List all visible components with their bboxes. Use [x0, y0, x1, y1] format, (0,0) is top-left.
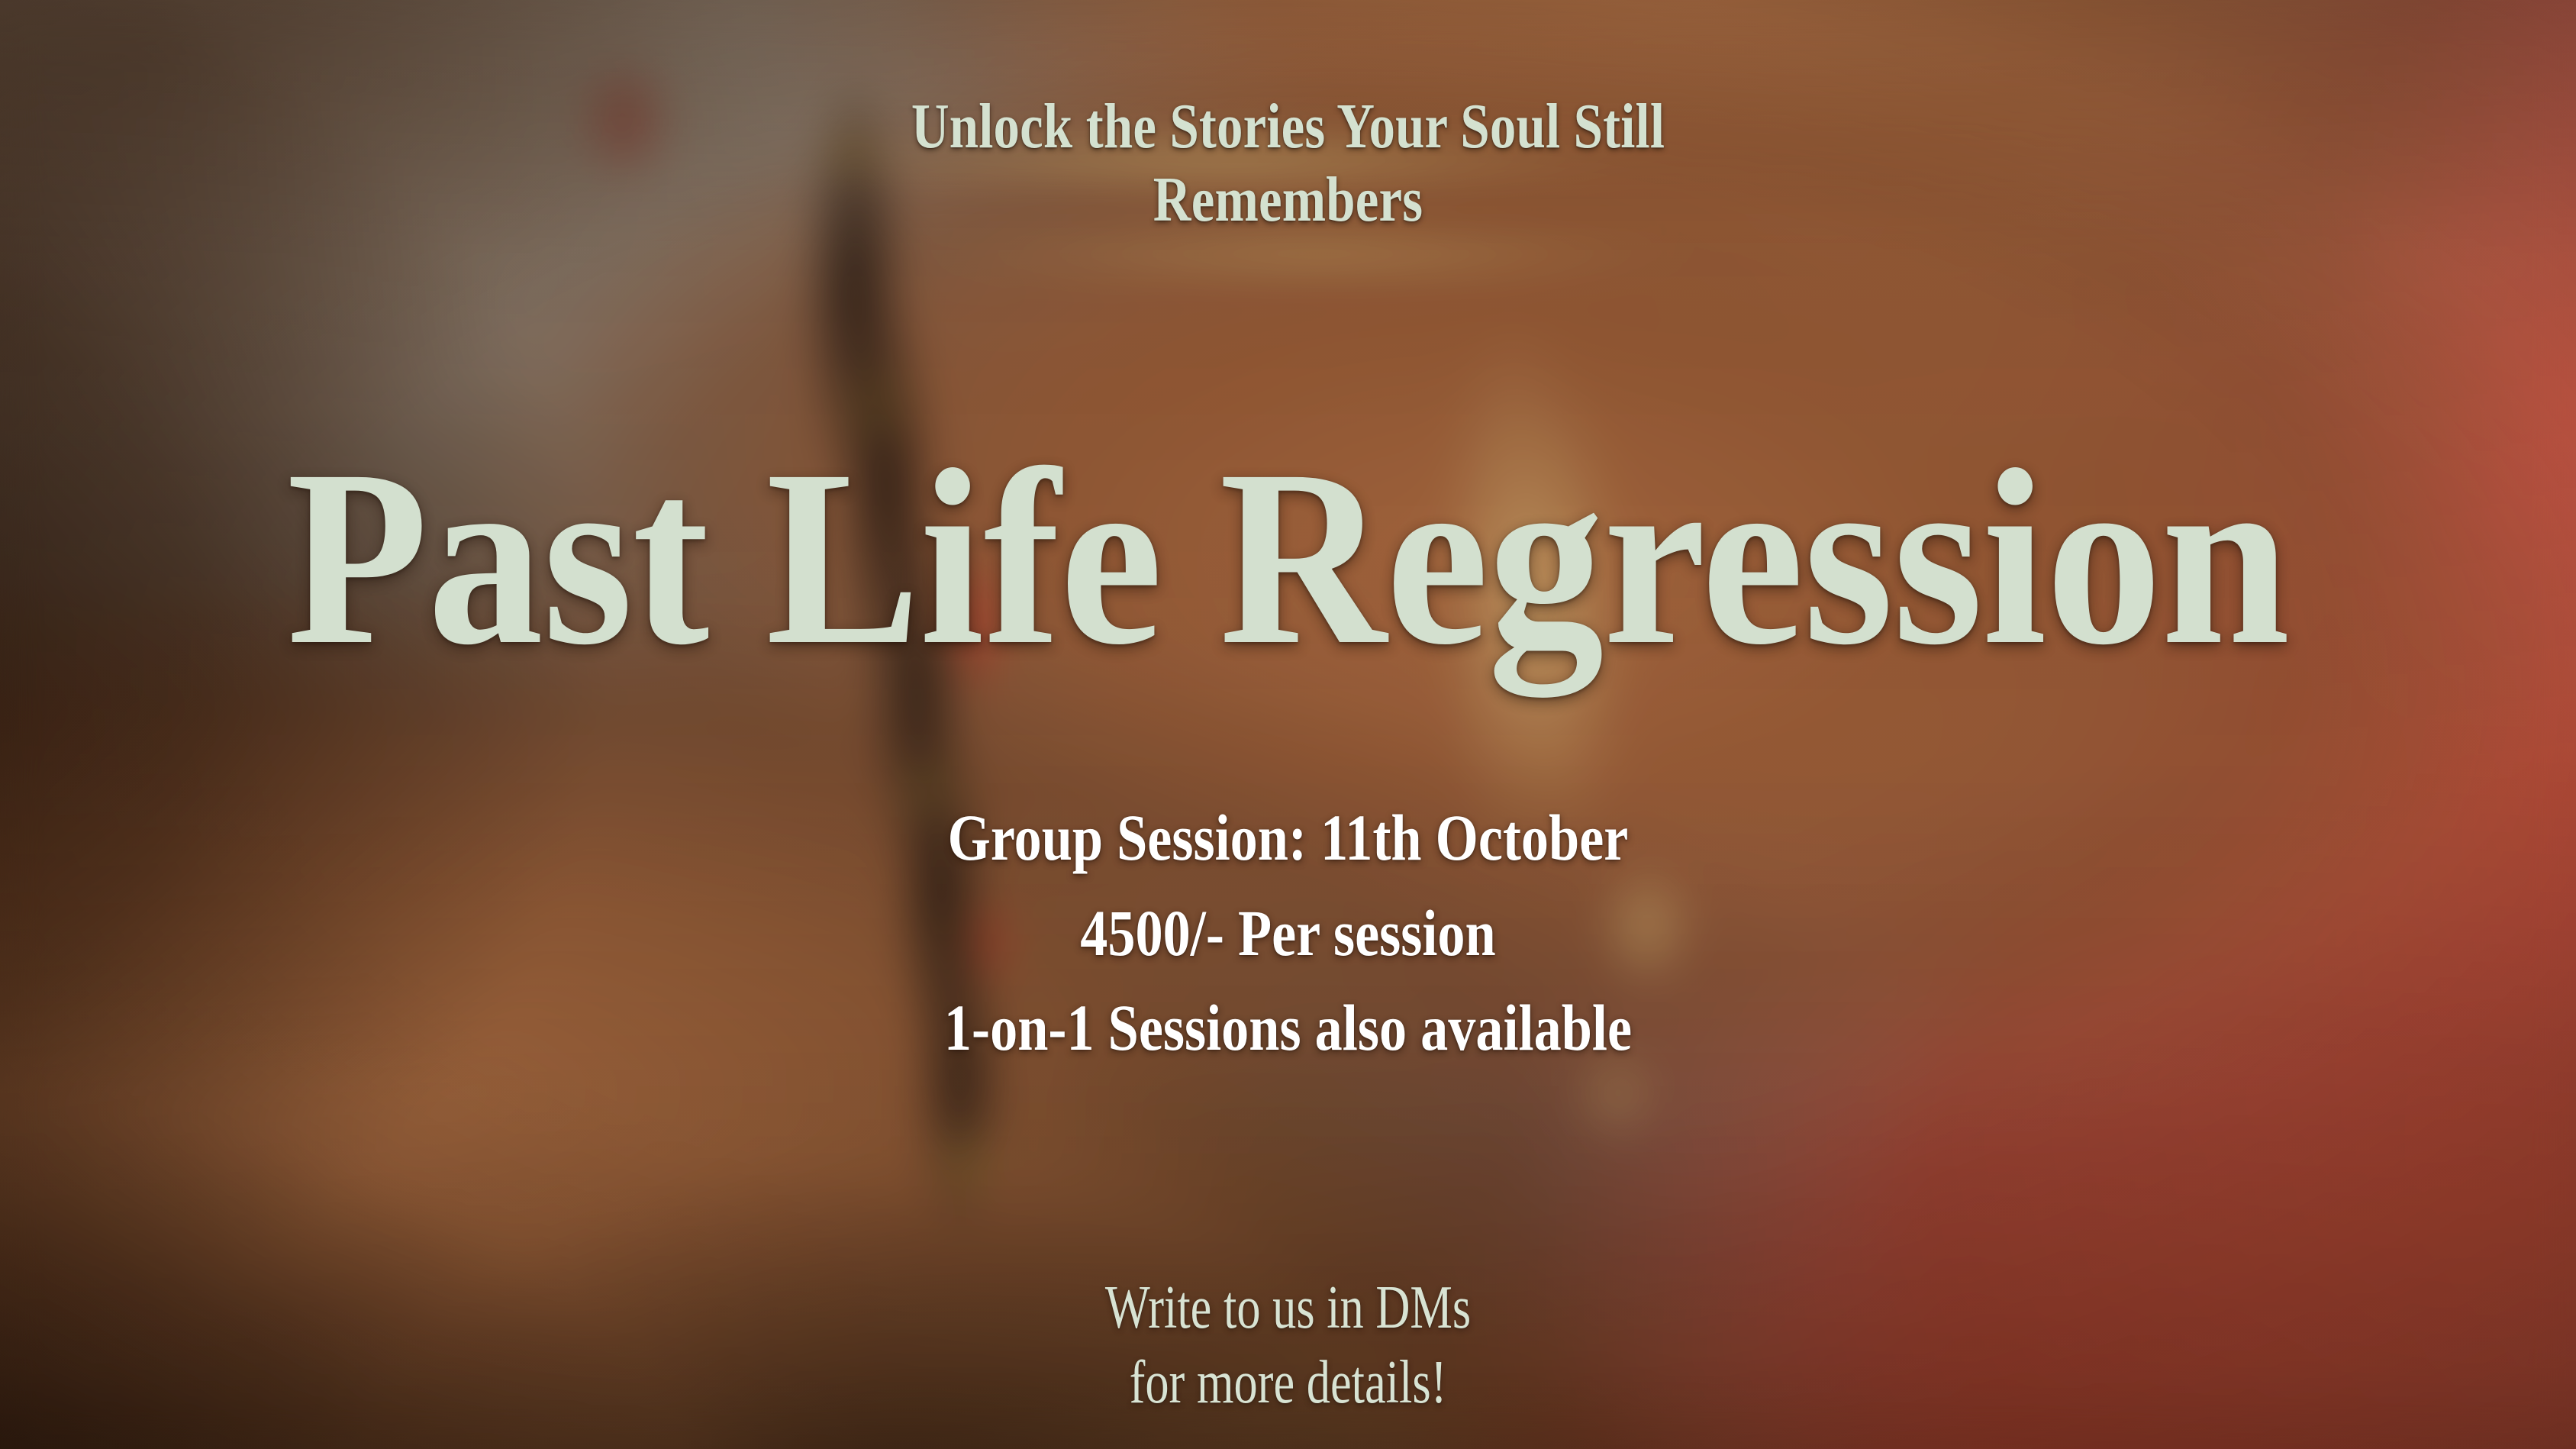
page-title: Past Life Regression — [103, 432, 2473, 684]
subheadline: Unlock the Stories Your Soul Still Remem… — [232, 90, 2345, 237]
session-details: Group Session: 11th October 4500/- Per s… — [206, 790, 2370, 1076]
text-content-layer: Unlock the Stories Your Soul Still Remem… — [0, 0, 2576, 1449]
poster-canvas: Unlock the Stories Your Soul Still Remem… — [0, 0, 2576, 1449]
call-to-action: Write to us in DMs for more details! — [283, 1271, 2293, 1420]
